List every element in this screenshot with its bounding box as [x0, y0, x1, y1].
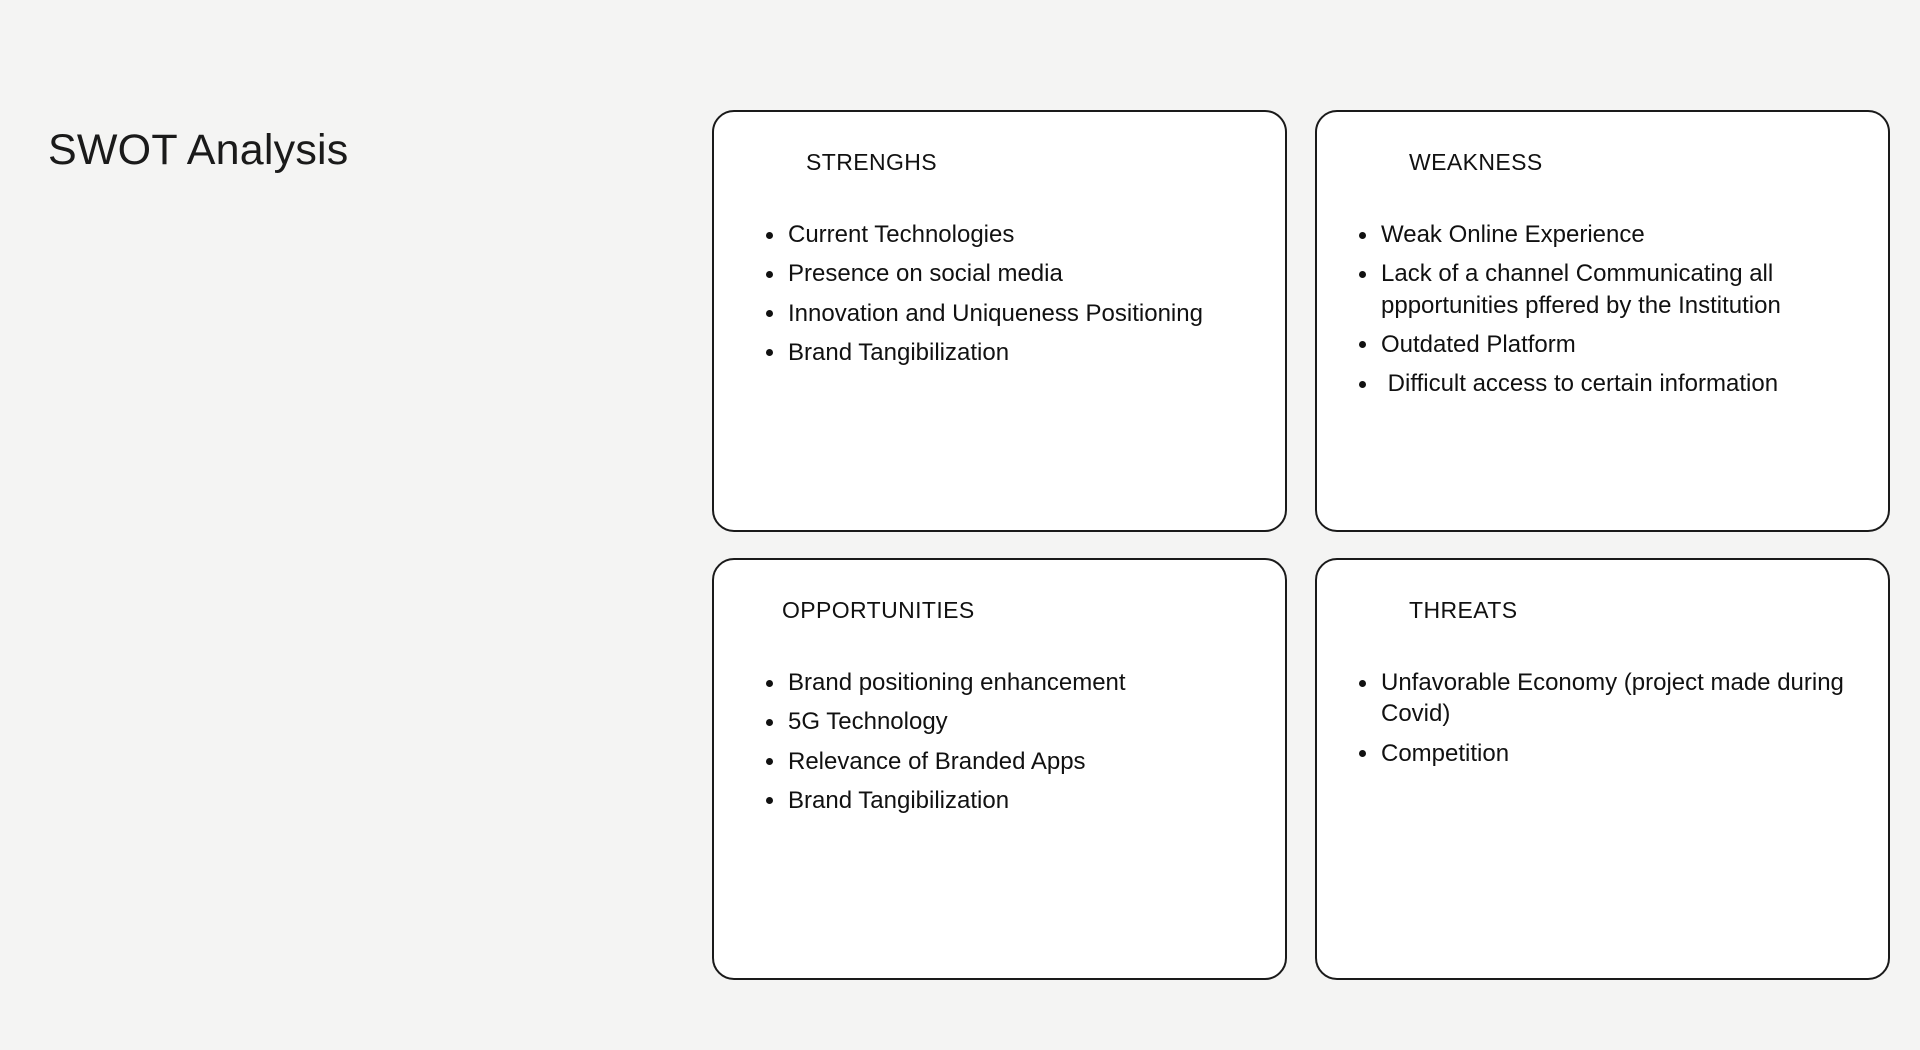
- list-item: Current Technologies: [758, 219, 1251, 250]
- swot-card-opportunities[interactable]: OPPORTUNITIES Brand positioning enhancem…: [712, 558, 1287, 980]
- bullet-icon: [766, 271, 773, 278]
- list-item-label: Brand Tangibilization: [788, 787, 1009, 814]
- bullet-icon: [766, 232, 773, 239]
- swot-card-strengths[interactable]: STRENGHS Current Technologies Presence o…: [712, 110, 1287, 532]
- card-title-opportunities: OPPORTUNITIES: [782, 598, 1251, 623]
- bullet-icon: [1359, 341, 1366, 348]
- list-item-label: Relevance of Branded Apps: [788, 748, 1086, 775]
- list-item-label: Current Technologies: [788, 221, 1014, 248]
- bullet-icon: [766, 349, 773, 356]
- bullet-icon: [766, 680, 773, 687]
- list-item: Difficult access to certain information: [1351, 368, 1854, 399]
- bullet-icon: [1359, 271, 1366, 278]
- list-item-label: Brand positioning enhancement: [788, 669, 1126, 696]
- list-item-label: Innovation and Uniqueness Positioning: [788, 300, 1203, 327]
- bullet-icon: [1359, 232, 1366, 239]
- list-item: Outdated Platform: [1351, 329, 1854, 360]
- list-item-label: Presence on social media: [788, 260, 1063, 287]
- list-item-label: Weak Online Experience: [1381, 221, 1645, 248]
- list-item-label: Brand Tangibilization: [788, 339, 1009, 366]
- list-item: Unfavorable Economy (project made during…: [1351, 667, 1854, 729]
- swot-card-weakness[interactable]: WEAKNESS Weak Online Experience Lack of …: [1315, 110, 1890, 532]
- card-list-opportunities: Brand positioning enhancement 5G Technol…: [758, 667, 1251, 816]
- bullet-icon: [1359, 680, 1366, 687]
- list-item: Lack of a channel Communicating all pppo…: [1351, 258, 1854, 320]
- list-item: Brand Tangibilization: [758, 337, 1251, 368]
- bullet-icon: [1359, 750, 1366, 757]
- list-item: Brand Tangibilization: [758, 785, 1251, 816]
- bullet-icon: [766, 758, 773, 765]
- swot-grid: STRENGHS Current Technologies Presence o…: [712, 110, 1890, 980]
- list-item: Competition: [1351, 738, 1854, 769]
- bullet-icon: [766, 310, 773, 317]
- bullet-icon: [766, 797, 773, 804]
- swot-card-threats[interactable]: THREATS Unfavorable Economy (project mad…: [1315, 558, 1890, 980]
- card-list-weakness: Weak Online Experience Lack of a channel…: [1351, 219, 1854, 399]
- list-item: Weak Online Experience: [1351, 219, 1854, 250]
- card-title-strengths: STRENGHS: [806, 150, 1251, 175]
- page-title: SWOT Analysis: [48, 126, 349, 175]
- list-item-label: Lack of a channel Communicating all pppo…: [1381, 260, 1781, 318]
- list-item: 5G Technology: [758, 706, 1251, 737]
- card-list-threats: Unfavorable Economy (project made during…: [1351, 667, 1854, 769]
- list-item: Relevance of Branded Apps: [758, 746, 1251, 777]
- list-item: Presence on social media: [758, 258, 1251, 289]
- bullet-icon: [1359, 381, 1366, 388]
- list-item-label: 5G Technology: [788, 708, 948, 735]
- list-item-label: Competition: [1381, 740, 1509, 767]
- list-item-label: Difficult access to certain information: [1381, 370, 1778, 397]
- card-title-threats: THREATS: [1409, 598, 1854, 623]
- bullet-icon: [766, 719, 773, 726]
- slide-canvas: SWOT Analysis STRENGHS Current Technolog…: [0, 0, 1920, 1050]
- list-item-label: Outdated Platform: [1381, 331, 1576, 358]
- card-title-weakness: WEAKNESS: [1409, 150, 1854, 175]
- list-item: Innovation and Uniqueness Positioning: [758, 298, 1251, 329]
- card-list-strengths: Current Technologies Presence on social …: [758, 219, 1251, 368]
- list-item-label: Unfavorable Economy (project made during…: [1381, 669, 1851, 727]
- list-item: Brand positioning enhancement: [758, 667, 1251, 698]
